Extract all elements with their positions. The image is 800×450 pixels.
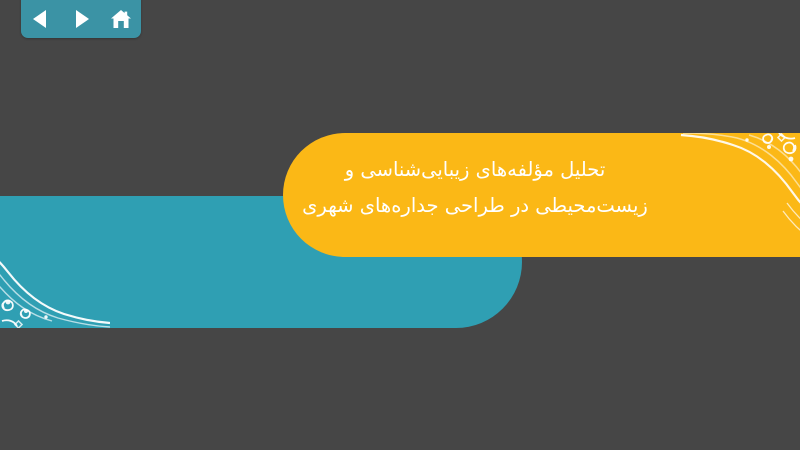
previous-slide-button[interactable] [26,5,56,33]
teal-arabesque-ornament-icon [0,210,110,328]
slide-stage: تحلیل مؤلفه‌های زیبایی‌شناسی و زیست‌محیط… [0,0,800,450]
orange-arabesque-ornament-icon [653,133,800,257]
slide-title-line-2: زیست‌محیطی در طراحی جداره‌های شهری [300,188,650,224]
home-icon [110,9,132,30]
forward-arrow-icon [72,9,90,29]
slide-navigation-bar [21,0,141,38]
home-button[interactable] [106,5,136,33]
slide-title: تحلیل مؤلفه‌های زیبایی‌شناسی و زیست‌محیط… [300,152,650,224]
back-arrow-icon [32,9,50,29]
next-slide-button[interactable] [66,5,96,33]
slide-title-line-1: تحلیل مؤلفه‌های زیبایی‌شناسی و [300,152,650,188]
